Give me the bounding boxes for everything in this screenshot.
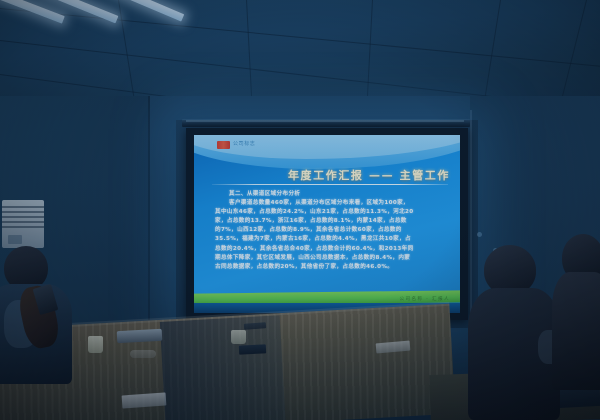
company-logo-text: 公司标志 <box>233 140 255 147</box>
screen-surface: 公司标志 年度工作汇报 —— 主管工作 其二、从渠道区域分布分析 客户渠道总数量… <box>194 135 460 313</box>
slide-line: 古同总数据家，占总数的20%，其他省份了家，占总数的46.0%。 <box>215 263 441 272</box>
wall-fixture-knob-2 <box>477 232 482 237</box>
slide-line: 35.5%，福建为7家，内蒙古16家，占总数的4.4%，黑龙江共10家，占 <box>215 235 441 244</box>
slide-line: 的7%，山西12家，占总数的8.9%，其余各省总计数60家，占总数的 <box>215 226 441 235</box>
slide-title-rule <box>212 184 448 185</box>
slide-line: 总数的20.4%，其余各省总合40家，占总数合计的60.4%，和2013年同 <box>215 245 441 254</box>
desk-microphone <box>117 329 163 343</box>
cup-center <box>231 330 246 344</box>
air-conditioner-unit <box>2 200 44 248</box>
ac-control-panel <box>8 235 22 244</box>
projection-screen: 公司标志 年度工作汇报 —— 主管工作 其二、从渠道区域分布分析 客户渠道总数量… <box>186 128 468 320</box>
wall-corner <box>148 96 150 356</box>
water-bottle-reflection <box>130 350 156 358</box>
slide-line: 家，占总数的13.7%，浙江16家，占总数的8.1%，内蒙14家，占总数 <box>215 217 441 226</box>
slide-title: 年度工作汇报 —— 主管工作 <box>288 167 450 183</box>
table-shadow <box>160 315 286 420</box>
notebook <box>239 344 266 354</box>
company-logo-icon <box>217 141 230 149</box>
slide-line: 其中山东46家，占总数的24.2%，山东21家，占总数的11.3%，河北20 <box>215 208 441 217</box>
slide-line: 其二、从渠道区域分布分析 <box>215 190 441 199</box>
presentation-slide: 公司标志 年度工作汇报 —— 主管工作 其二、从渠道区域分布分析 客户渠道总数量… <box>194 135 460 313</box>
projector-screen-rail-highlight <box>186 120 464 122</box>
slide-body-text: 其二、从渠道区域分布分析 客户渠道总数量460家，从渠道分布区域分布来看，区域为… <box>215 190 441 272</box>
cup-left <box>88 336 103 353</box>
conference-room-photo: 公司标志 年度工作汇报 —— 主管工作 其二、从渠道区域分布分析 客户渠道总数量… <box>0 0 600 420</box>
slide-line: 客户渠道总数量460家，从渠道分布区域分布来看，区域为100家， <box>215 199 441 208</box>
attendee-right-far-body <box>552 272 600 390</box>
slide-line: 期总体下降家，其它区域发展，山西公司总数据本，占总数的8.4%，内蒙 <box>215 254 441 263</box>
